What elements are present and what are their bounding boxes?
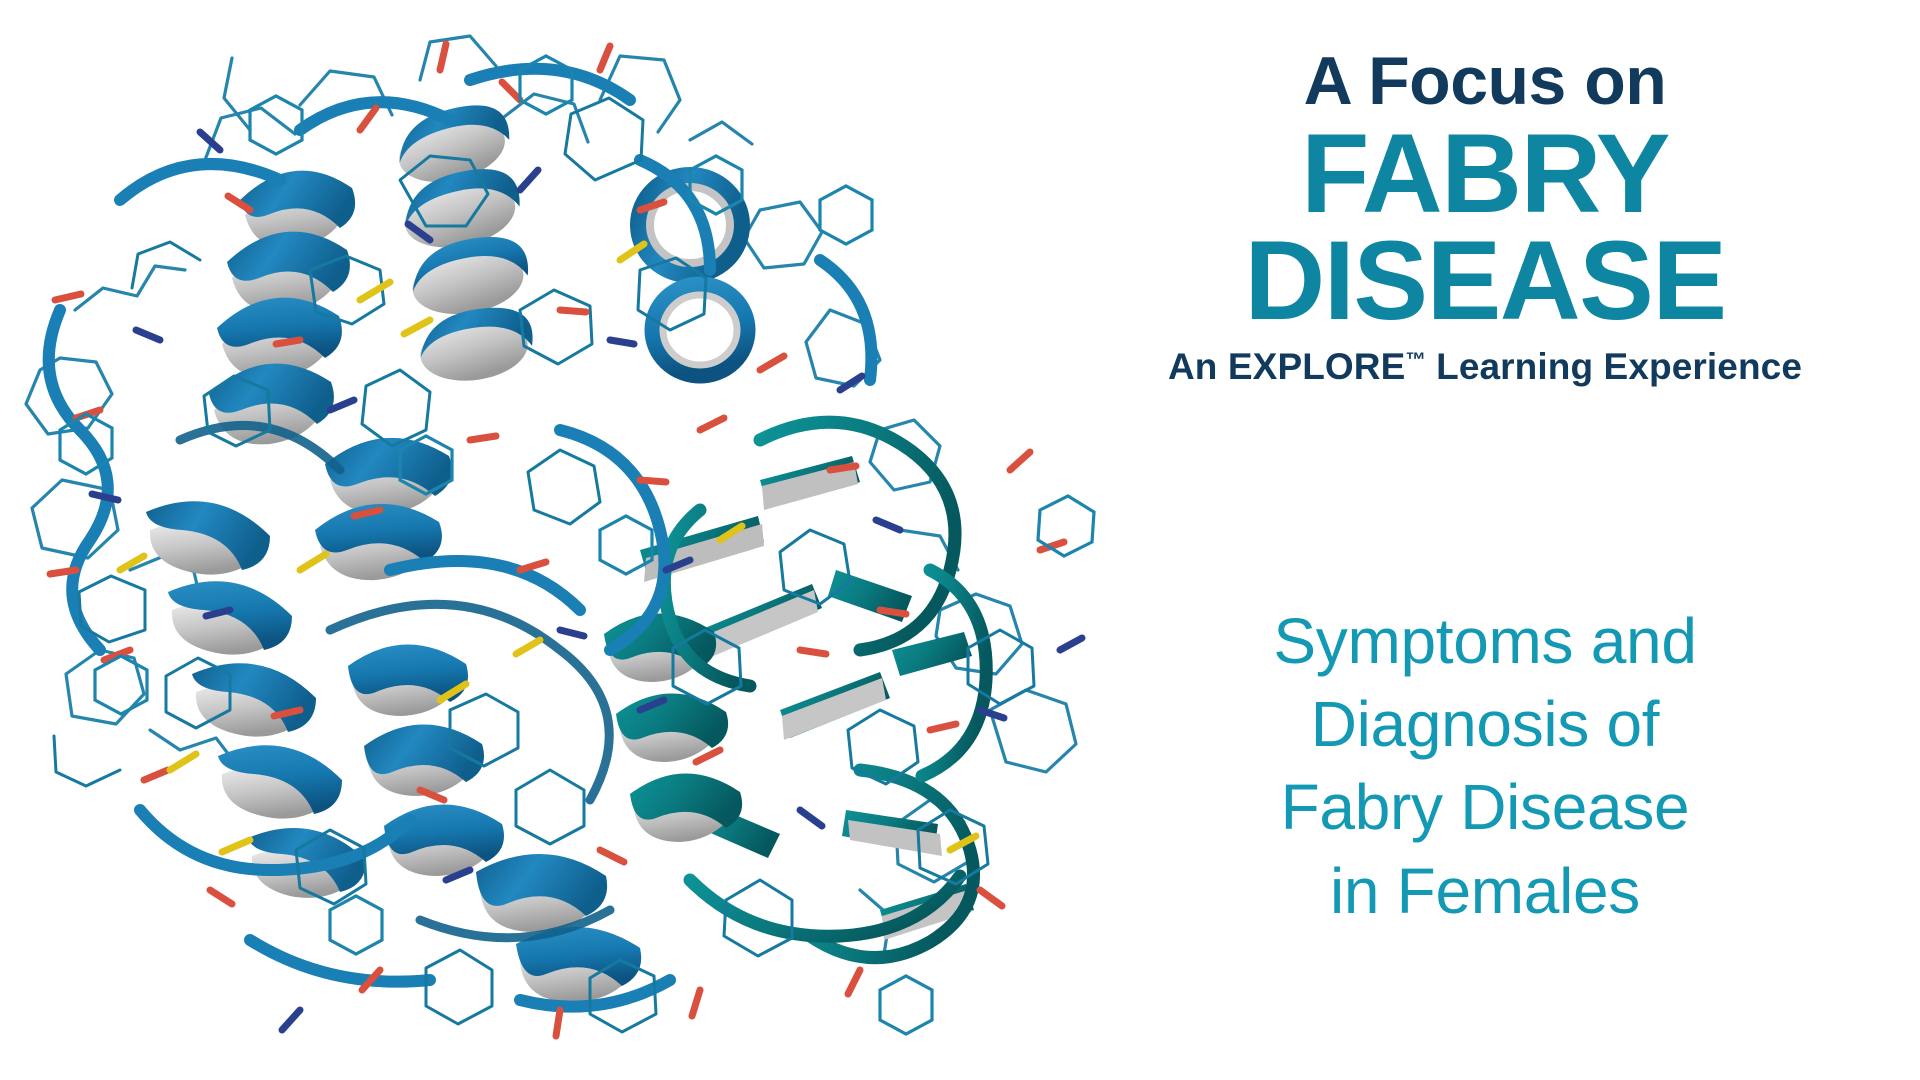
trademark-icon: ™ bbox=[1405, 350, 1425, 372]
kicker-text: A Focus on bbox=[1085, 48, 1885, 115]
explore-suffix: Learning Experience bbox=[1426, 346, 1802, 387]
protein-ribbon-structure-figure bbox=[0, 10, 1120, 1060]
title-block: A Focus on FABRY DISEASE An EXPLORE™ Lea… bbox=[1085, 48, 1885, 388]
subtitle-line-4: in Females bbox=[1085, 850, 1885, 933]
subtitle-line-2: Diagnosis of bbox=[1085, 683, 1885, 766]
brand-word-fabry: FABRY bbox=[1085, 121, 1885, 226]
explore-tagline: An EXPLORE™ Learning Experience bbox=[1085, 347, 1885, 388]
subtitle-line-3: Fabry Disease bbox=[1085, 766, 1885, 849]
title-card-stage: A Focus on FABRY DISEASE An EXPLORE™ Lea… bbox=[0, 0, 1920, 1080]
protein-structure-svg bbox=[0, 10, 1120, 1060]
subtitle-line-1: Symptoms and bbox=[1085, 600, 1885, 683]
brand-word-disease: DISEASE bbox=[1085, 228, 1885, 333]
subtitle-block: Symptoms and Diagnosis of Fabry Disease … bbox=[1085, 600, 1885, 933]
explore-prefix: An EXPLORE bbox=[1168, 346, 1405, 387]
